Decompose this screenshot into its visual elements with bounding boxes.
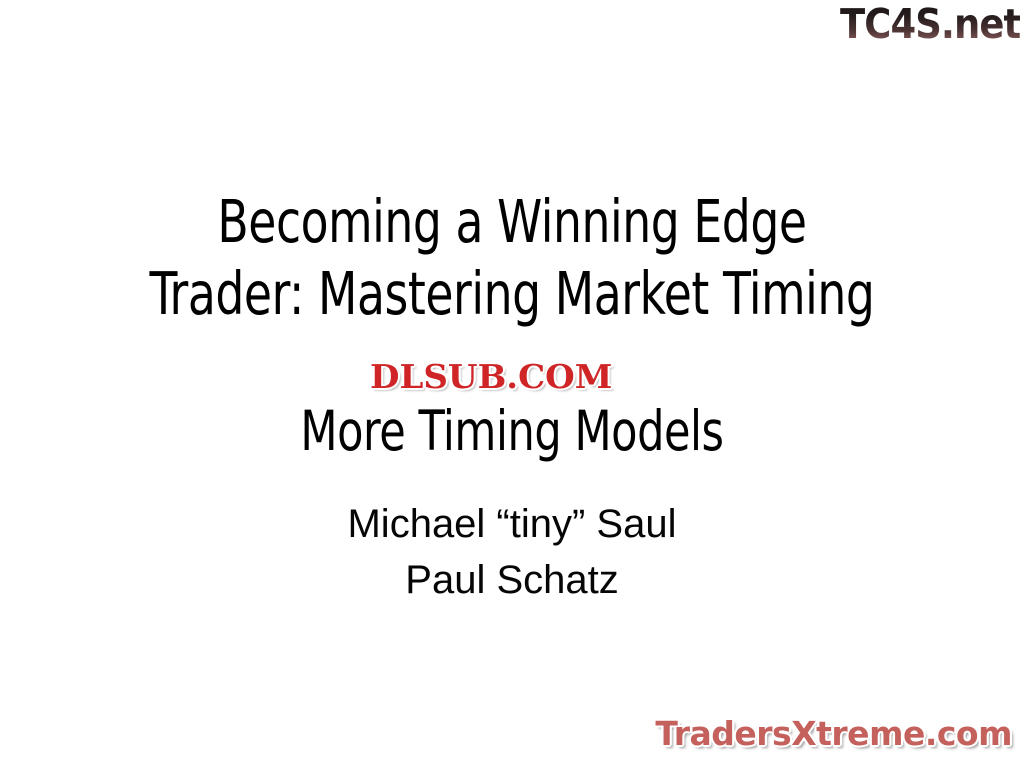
slide-title: Becoming a Winning Edge Trader: Masterin… xyxy=(0,186,1024,330)
slide-authors: Michael “tiny” Saul Paul Schatz xyxy=(0,496,1024,608)
watermark-tradersxtreme-com: TradersXtreme.com xyxy=(655,714,1012,754)
slide-subtitle: More Timing Models xyxy=(0,398,1024,464)
author-name-2: Paul Schatz xyxy=(0,552,1024,608)
slide-title-line-1: Becoming a Winning Edge xyxy=(72,186,953,258)
watermark-tc4s-net: TC4S.net xyxy=(840,0,1020,48)
slide-title-line-2: Trader: Mastering Market Timing xyxy=(72,258,953,330)
watermark-dlsub-com: DLSUB.COM xyxy=(370,358,612,396)
author-name-1: Michael “tiny” Saul xyxy=(0,496,1024,552)
slide-subtitle-line-1: More Timing Models xyxy=(67,398,958,464)
presentation-slide: Becoming a Winning Edge Trader: Masterin… xyxy=(0,0,1024,768)
